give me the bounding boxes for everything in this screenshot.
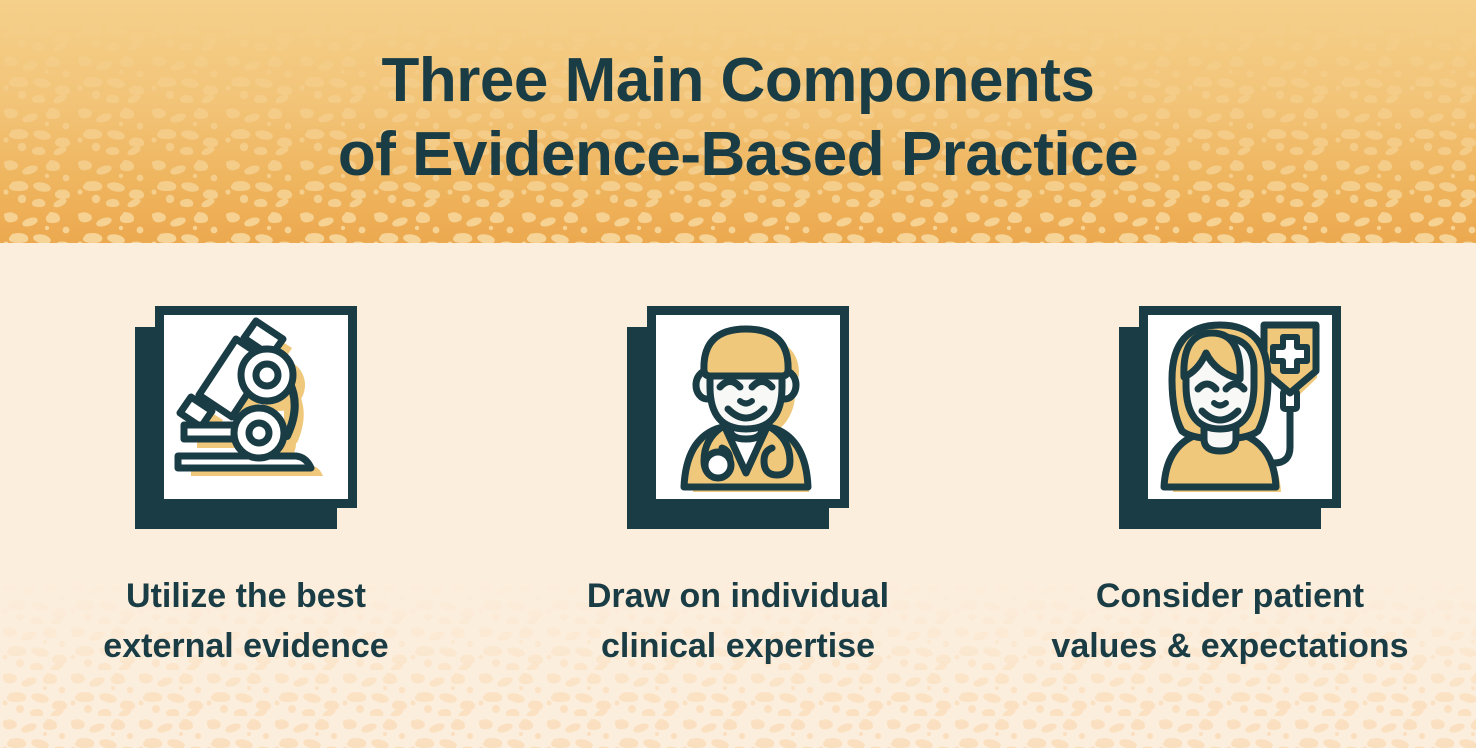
component-column-1: Utilize the best external evidence bbox=[0, 243, 492, 748]
title-line-2: of Evidence-Based Practice bbox=[0, 118, 1476, 192]
microscope-icon bbox=[164, 315, 348, 499]
component-column-3: Consider patient values & expectations bbox=[984, 243, 1476, 748]
doctor-icon bbox=[656, 315, 840, 499]
title-line-1: Three Main Components bbox=[0, 44, 1476, 118]
patient-iv-icon bbox=[1148, 315, 1332, 499]
icon-card-stack-2 bbox=[627, 306, 849, 528]
infographic-root: Three Main Components of Evidence-Based … bbox=[0, 0, 1476, 748]
header-band: Three Main Components of Evidence-Based … bbox=[0, 0, 1476, 243]
icon-card bbox=[155, 306, 357, 508]
icon-card bbox=[1139, 306, 1341, 508]
icon-card-stack-1 bbox=[135, 306, 357, 528]
page-title: Three Main Components of Evidence-Based … bbox=[0, 44, 1476, 192]
icon-card bbox=[647, 306, 849, 508]
component-caption-2: Draw on individual clinical expertise bbox=[587, 571, 889, 671]
component-caption-3: Consider patient values & expectations bbox=[1051, 571, 1408, 671]
components-row: Utilize the best external evidence bbox=[0, 243, 1476, 748]
component-column-2: Draw on individual clinical expertise bbox=[492, 243, 984, 748]
component-caption-1: Utilize the best external evidence bbox=[103, 571, 388, 671]
icon-card-stack-3 bbox=[1119, 306, 1341, 528]
